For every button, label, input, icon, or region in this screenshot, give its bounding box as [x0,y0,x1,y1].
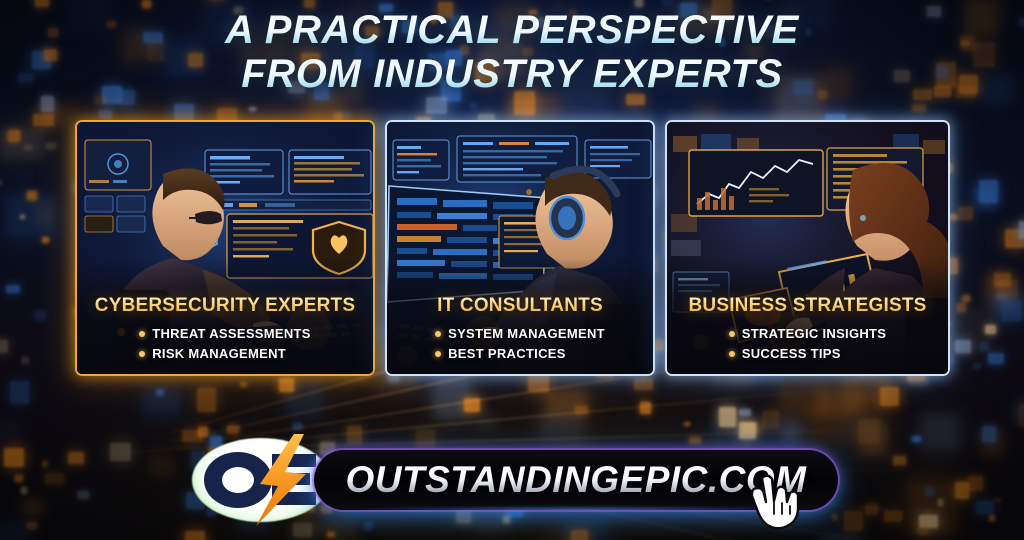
background-tile [46,143,56,149]
list-item: SYSTEM MANAGEMENT [435,324,605,344]
card-1-title: CYBERSECURITY EXPERTS [77,295,373,317]
card-1-bullet-2: RISK MANAGEMENT [152,344,286,364]
website-url: OUTSTANDINGEPIC.COM [345,459,806,501]
background-tile [1001,300,1021,321]
list-item: RISK MANAGEMENT [139,344,311,364]
background-tile [958,207,973,220]
background-tile [35,0,49,7]
background-tile [24,145,32,150]
hand-pointer-icon [744,472,800,530]
card-2-bullet-2: BEST PRACTICES [448,344,566,364]
card-3-bullet-1: STRATEGIC INSIGHTS [742,324,887,344]
card-2-title: IT CONSULTANTS [387,295,653,317]
card-3-bullet-2: SUCCESS TIPS [742,344,841,364]
background-tile [334,113,342,120]
lightning-bolt-icon [256,434,306,526]
background-tile [635,0,643,7]
card-1-bullet-1: THREAT ASSESSMENTS [152,324,311,344]
background-tile [33,114,54,126]
card-3-title: BUSINESS STRATEGISTS [667,295,948,317]
background-tile [142,0,151,8]
brand-footer[interactable]: OUTSTANDINGEPIC.COM [186,428,838,532]
background-tile [20,215,25,219]
infographic-poster: A PRACTICAL PERSPECTIVE FROM INDUSTRY EX… [0,0,1024,540]
background-tile [962,295,970,302]
bullet-dot-icon [139,351,145,357]
list-item: THREAT ASSESSMENTS [139,324,311,344]
background-tile [42,237,49,243]
headline: A PRACTICAL PERSPECTIVE FROM INDUSTRY EX… [0,8,1024,96]
bullet-dot-icon [435,331,441,337]
background-tile [0,180,2,185]
background-tile [470,103,477,108]
background-tile [426,97,447,114]
card-1-bullets: THREAT ASSESSMENTS RISK MANAGEMENT [139,324,311,364]
background-tile [249,107,256,111]
background-tile [662,0,673,6]
card-2-text: IT CONSULTANTS SYSTEM MANAGEMENT BEST PR… [387,295,653,364]
list-item: SUCCESS TIPS [729,344,887,364]
headline-line-1: A PRACTICAL PERSPECTIVE [0,8,1024,52]
background-tile [985,325,996,334]
bullet-dot-icon [729,331,735,337]
background-tile [994,273,1011,287]
background-tile [949,214,957,220]
background-tile [304,0,315,8]
card-business-strategists[interactable]: BUSINESS STRATEGISTS STRATEGIC INSIGHTS … [665,120,950,376]
list-item: BEST PRACTICES [435,344,605,364]
card-2-bullet-1: SYSTEM MANAGEMENT [448,324,605,344]
background-tile [94,96,106,104]
bullet-dot-icon [139,331,145,337]
list-item: STRATEGIC INSIGHTS [729,324,887,344]
card-2-bullets: SYSTEM MANAGEMENT BEST PRACTICES [435,324,605,364]
card-1-text: CYBERSECURITY EXPERTS THREAT ASSESSMENTS… [77,295,373,364]
background-tile [99,110,112,119]
background-tile [979,180,998,203]
card-cybersecurity-experts[interactable]: CYBERSECURITY EXPERTS THREAT ASSESSMENTS… [75,120,375,376]
bullet-dot-icon [729,351,735,357]
background-tile [41,96,54,112]
bullet-dot-icon [435,351,441,357]
background-tile [27,191,37,200]
card-3-text: BUSINESS STRATEGISTS STRATEGIC INSIGHTS … [667,295,948,364]
background-tile [6,285,20,293]
background-tile [34,311,46,320]
background-tile [1019,221,1024,239]
headline-line-2: FROM INDUSTRY EXPERTS [0,52,1024,96]
background-tile [957,303,966,312]
background-tile [8,130,20,142]
card-3-bullets: STRATEGIC INSIGHTS SUCCESS TIPS [729,324,887,364]
card-it-consultants[interactable]: IT CONSULTANTS SYSTEM MANAGEMENT BEST PR… [385,120,655,376]
background-tile [912,104,926,112]
